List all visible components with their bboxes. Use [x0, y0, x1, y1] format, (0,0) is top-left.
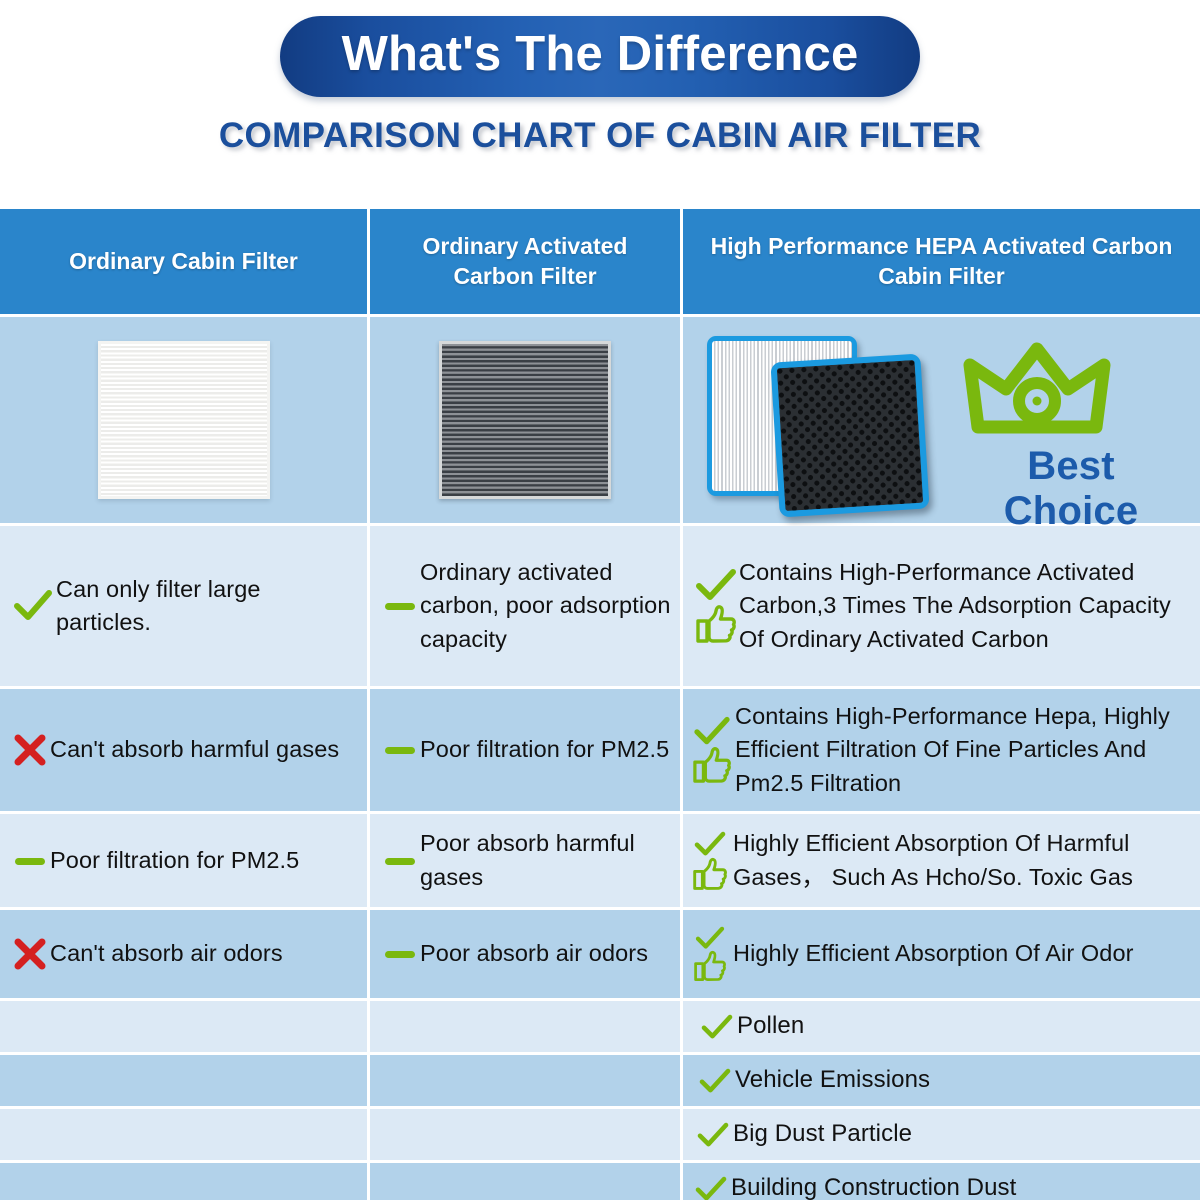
- feature-cell: Poor filtration for PM2.5: [0, 814, 370, 907]
- title-pill: What's The Difference: [280, 16, 921, 97]
- feature-text: Poor filtration for PM2.5: [420, 733, 669, 766]
- check-icon: [695, 1122, 731, 1148]
- activated-carbon-filter-image: [439, 341, 611, 499]
- feature-cell: Highly Efficient Absorption Of Harmful G…: [683, 814, 1200, 907]
- feature-cell: Contains High-Performance Activated Carb…: [683, 526, 1200, 686]
- table-row: Poor filtration for PM2.5 Poor absorb ha…: [0, 814, 1200, 910]
- feature-cell-empty: [370, 1055, 683, 1106]
- feature-text: Building Construction Dust: [731, 1171, 1016, 1200]
- feature-cell-empty: [370, 1001, 683, 1052]
- feature-text: Ordinary activated carbon, poor adsorpti…: [420, 556, 674, 656]
- comparison-table: Ordinary Cabin Filter Ordinary Activated…: [0, 209, 1200, 1200]
- icon-group: [10, 855, 50, 867]
- feature-cell: Can only filter large particles.: [0, 526, 370, 686]
- dash-icon: [384, 948, 416, 960]
- check-icon: [691, 716, 733, 746]
- check-icon: [693, 1176, 729, 1200]
- icon-group: [695, 1068, 735, 1094]
- cross-icon: [13, 937, 47, 971]
- icon-group: [693, 568, 739, 644]
- feature-cell-empty: [0, 1055, 370, 1106]
- page-title: What's The Difference: [342, 27, 859, 81]
- crown-icon: [962, 339, 1112, 443]
- feature-text: Big Dust Particle: [733, 1117, 912, 1151]
- check-icon: [699, 1014, 735, 1040]
- feature-text: Poor absorb air odors: [420, 937, 648, 970]
- column-header-ordinary-activated-carbon-filter: Ordinary Activated Carbon Filter: [370, 209, 683, 314]
- dash-icon: [14, 855, 46, 867]
- table-row: Big Dust Particle: [0, 1109, 1200, 1163]
- cross-icon: [13, 733, 47, 767]
- feature-text: Can't absorb air odors: [50, 937, 283, 970]
- feature-cell: Can't absorb harmful gases: [0, 689, 370, 811]
- check-icon: [690, 831, 730, 857]
- feature-cell: Pollen: [683, 1001, 1200, 1052]
- column-header-ordinary-cabin-filter: Ordinary Cabin Filter: [0, 209, 370, 314]
- feature-cell: Poor absorb harmful gases: [370, 814, 683, 907]
- icon-group: [380, 855, 420, 867]
- feature-text: Vehicle Emissions: [735, 1063, 930, 1097]
- feature-cell-empty: [0, 1001, 370, 1052]
- dash-icon: [384, 600, 416, 612]
- table-row: Can't absorb harmful gases Poor filtrati…: [0, 689, 1200, 814]
- icon-group: [697, 1014, 737, 1040]
- thumbs-up-icon: [690, 950, 730, 982]
- table-row: Pollen: [0, 1001, 1200, 1055]
- check-icon: [695, 568, 737, 602]
- check-icon: [690, 926, 730, 950]
- icon-group: [693, 1122, 733, 1148]
- feature-text: Highly Efficient Absorption Of Air Odor: [733, 937, 1134, 970]
- best-choice-label: Best Choice: [962, 444, 1180, 534]
- feature-text: Contains High-Performance Activated Carb…: [739, 556, 1194, 656]
- icon-group: [687, 926, 733, 982]
- product-cell-carbon: [370, 317, 683, 523]
- table-header-row: Ordinary Cabin Filter Ordinary Activated…: [0, 209, 1200, 317]
- dash-icon: [384, 744, 416, 756]
- thumbs-up-icon: [695, 604, 737, 644]
- carbon-filter-front: [770, 354, 929, 518]
- product-cell-ordinary: [0, 317, 370, 523]
- icon-group: [380, 948, 420, 960]
- feature-cell: Ordinary activated carbon, poor adsorpti…: [370, 526, 683, 686]
- check-icon: [697, 1068, 733, 1094]
- feature-cell: Big Dust Particle: [683, 1109, 1200, 1160]
- feature-cell: Can't absorb air odors: [0, 910, 370, 998]
- feature-cell: Poor absorb air odors: [370, 910, 683, 998]
- feature-text: Pollen: [737, 1009, 804, 1043]
- table-row: Building Construction Dust: [0, 1163, 1200, 1200]
- icon-group: [10, 937, 50, 971]
- comparison-chart-page: What's The Difference COMPARISON CHART O…: [0, 0, 1200, 1200]
- page-subtitle: COMPARISON CHART OF CABIN AIR FILTER: [0, 116, 1200, 156]
- icon-group: [691, 1176, 731, 1200]
- feature-text: Contains High-Performance Hepa, Highly E…: [735, 700, 1194, 800]
- table-row: Can only filter large particles. Ordinar…: [0, 526, 1200, 689]
- feature-cell-empty: [370, 1109, 683, 1160]
- feature-cell-empty: [0, 1109, 370, 1160]
- thumbs-up-icon: [691, 746, 733, 784]
- feature-text: Highly Efficient Absorption Of Harmful G…: [733, 827, 1194, 894]
- product-cell-hepa: Best Choice: [683, 317, 1200, 523]
- page-header: What's The Difference COMPARISON CHART O…: [0, 0, 1200, 156]
- column-header-label: Ordinary Activated Carbon Filter: [382, 232, 668, 291]
- icon-group: [10, 733, 50, 767]
- feature-cell-empty: [0, 1163, 370, 1200]
- feature-cell: Contains High-Performance Hepa, Highly E…: [683, 689, 1200, 811]
- check-icon: [13, 589, 53, 623]
- column-header-label: High Performance HEPA Activated Carbon C…: [695, 232, 1188, 291]
- feature-cell: Highly Efficient Absorption Of Air Odor: [683, 910, 1200, 998]
- feature-text: Can't absorb harmful gases: [50, 733, 339, 766]
- feature-text: Poor filtration for PM2.5: [50, 844, 299, 877]
- feature-text: Can only filter large particles.: [56, 573, 361, 640]
- hepa-carbon-filter-pair-image: [701, 330, 931, 510]
- dash-icon: [384, 855, 416, 867]
- icon-group: [689, 716, 735, 784]
- feature-cell: Poor filtration for PM2.5: [370, 689, 683, 811]
- best-choice-badge: Best Choice: [962, 339, 1180, 534]
- icon-group: [380, 600, 420, 612]
- column-header-label: Ordinary Cabin Filter: [69, 247, 298, 276]
- table-row: Can't absorb air odors Poor absorb air o…: [0, 910, 1200, 1001]
- icon-group: [380, 744, 420, 756]
- feature-cell: Vehicle Emissions: [683, 1055, 1200, 1106]
- feature-text: Poor absorb harmful gases: [420, 827, 674, 894]
- white-pleated-filter-image: [98, 341, 270, 499]
- column-header-hepa-activated-carbon-cabin-filter: High Performance HEPA Activated Carbon C…: [683, 209, 1200, 314]
- product-image-row: Best Choice: [0, 317, 1200, 526]
- feature-cell-empty: [370, 1163, 683, 1200]
- thumbs-up-icon: [690, 857, 730, 891]
- table-row: Vehicle Emissions: [0, 1055, 1200, 1109]
- feature-cell: Building Construction Dust: [683, 1163, 1200, 1200]
- icon-group: [687, 831, 733, 891]
- icon-group: [10, 589, 56, 623]
